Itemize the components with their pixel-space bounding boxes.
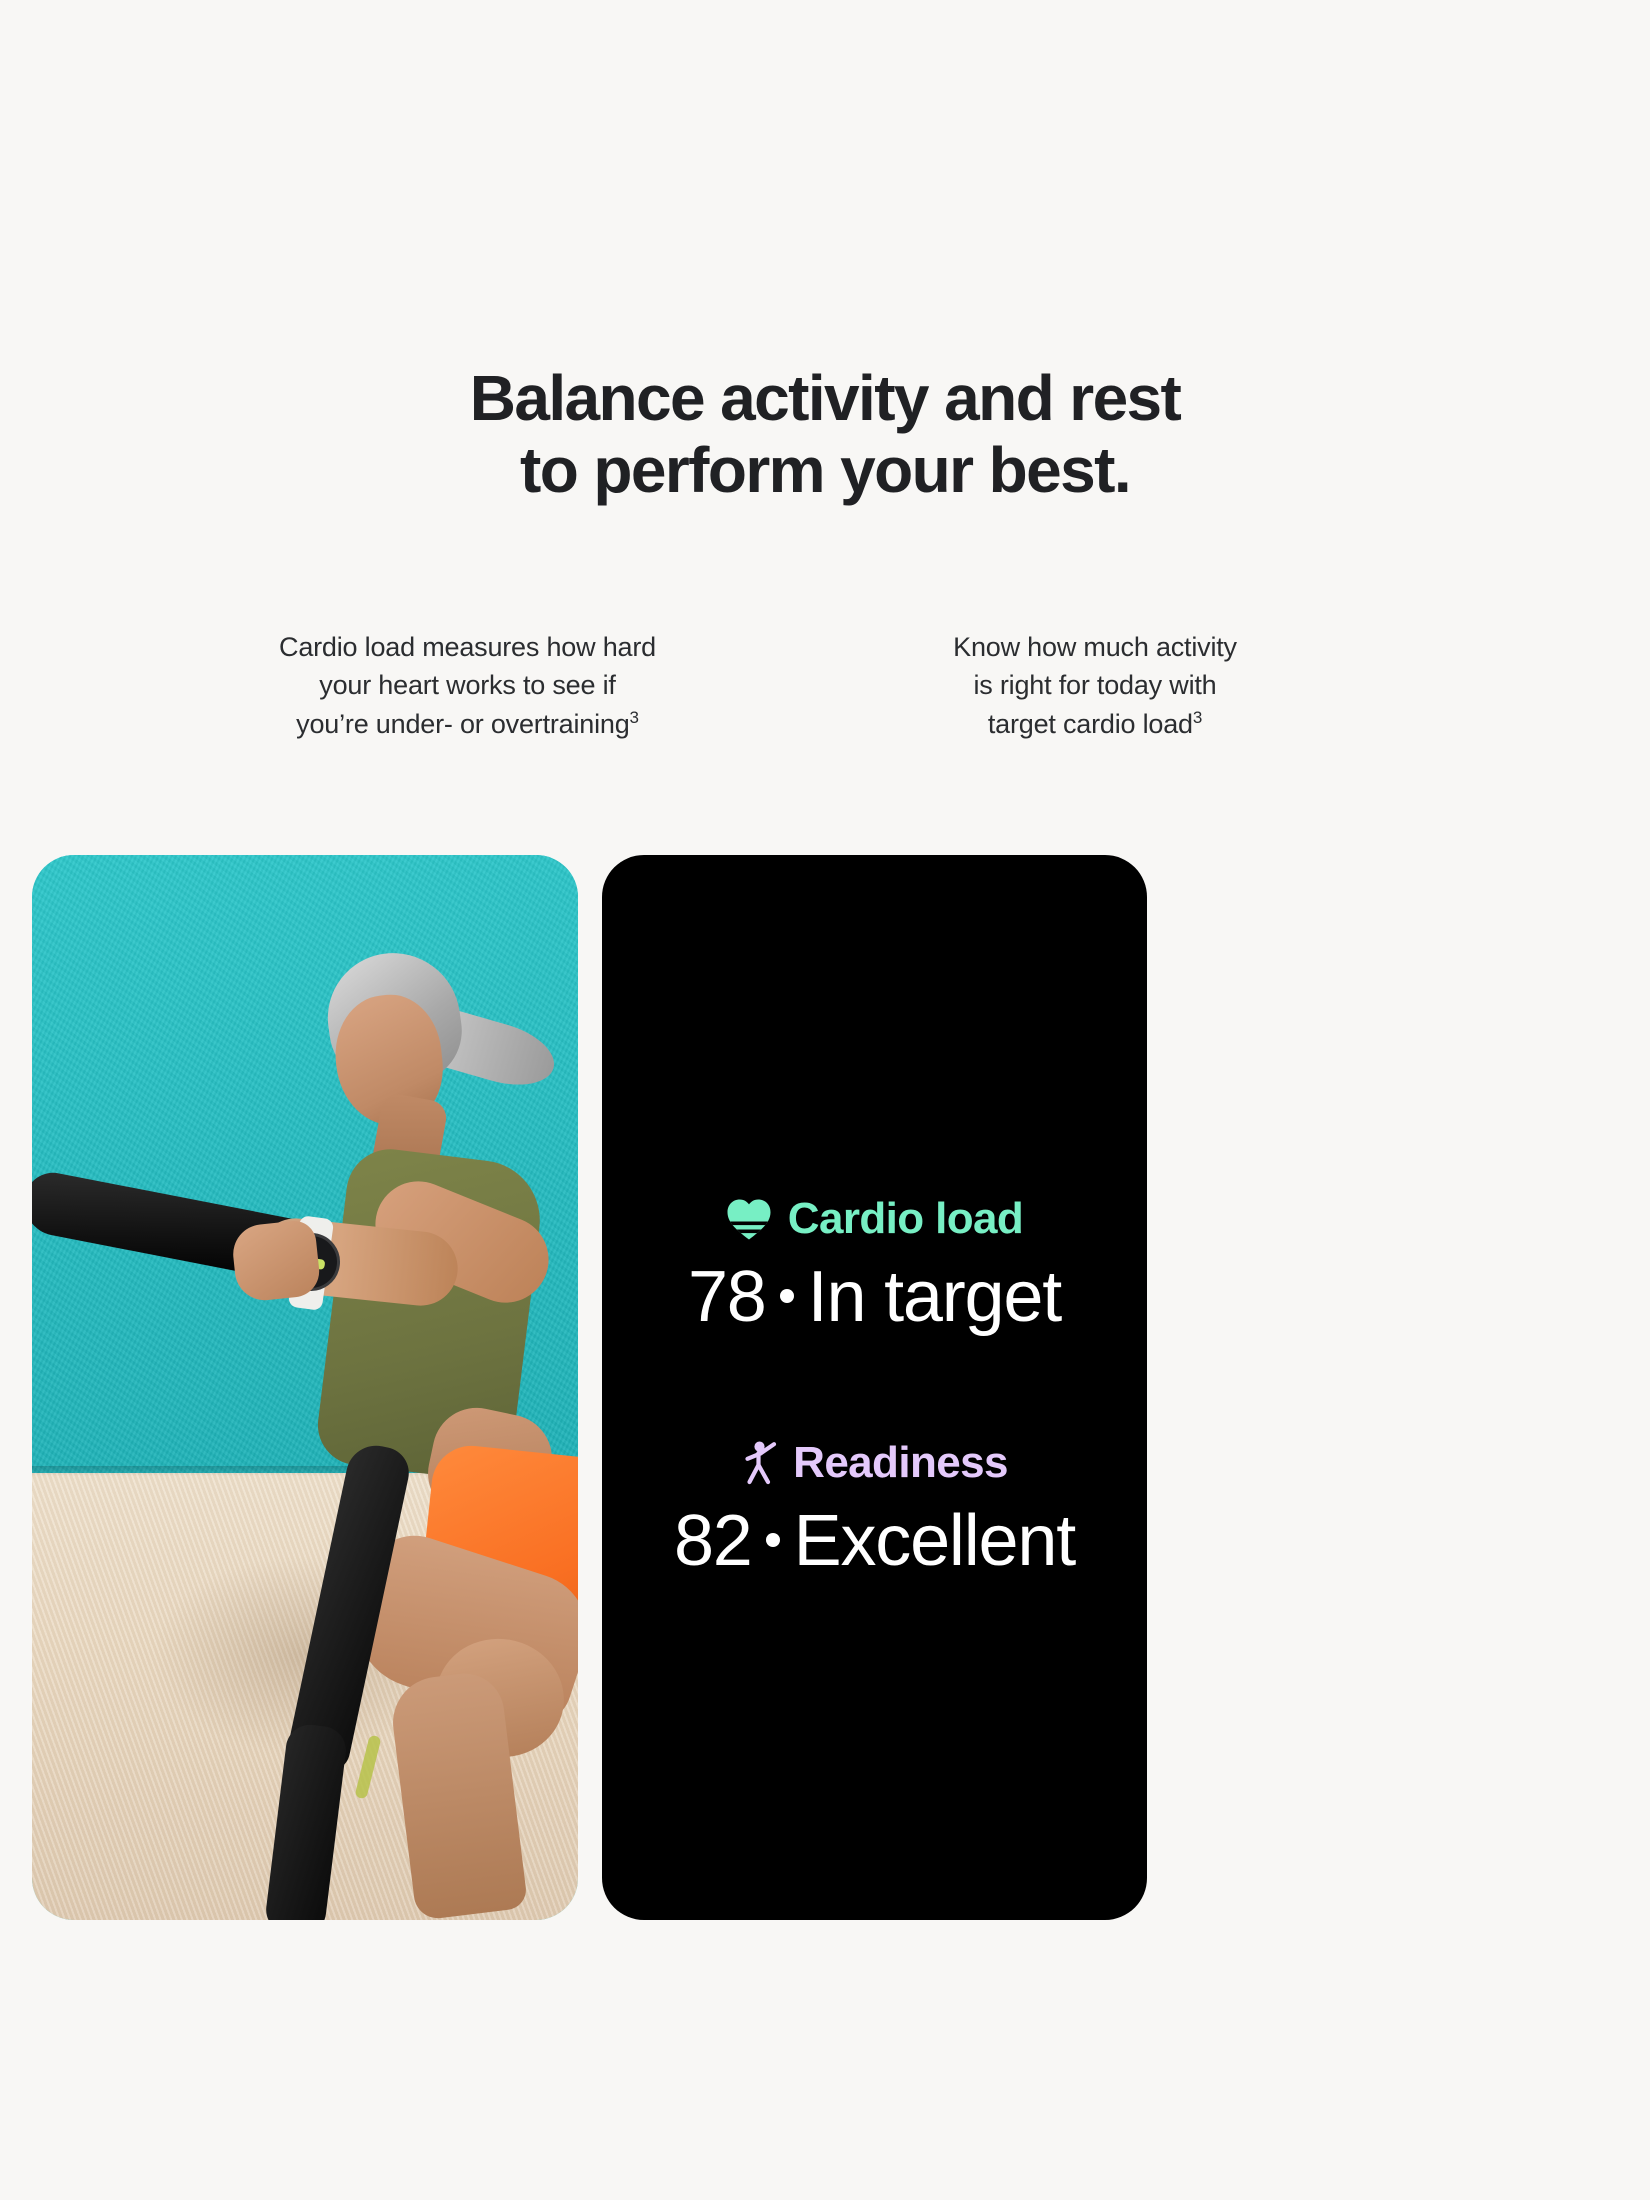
- description-line-3: you’re under- or overtraining3: [210, 705, 725, 743]
- metrics-card: Cardio load 78In target Readiness: [602, 855, 1147, 1920]
- metric-readiness-status: Excellent: [794, 1501, 1075, 1581]
- metric-readiness: Readiness 82Excellent: [602, 1438, 1147, 1582]
- metric-cardio-load-value-row: 78In target: [602, 1256, 1147, 1338]
- footnote-marker: 3: [630, 708, 639, 727]
- battle-rope-highlight: [354, 1734, 381, 1799]
- description-line-3: target cardio load3: [860, 705, 1330, 743]
- lifestyle-photo-card: [32, 855, 578, 1920]
- description-line-3-text: target cardio load: [988, 709, 1193, 739]
- page-title: Balance activity and rest to perform you…: [0, 362, 1650, 507]
- footnote-marker: 3: [1193, 708, 1202, 727]
- value-separator-dot: [780, 1289, 794, 1303]
- feature-description-target-load: Know how much activity is right for toda…: [860, 628, 1330, 743]
- metric-cardio-load: Cardio load 78In target: [602, 1194, 1147, 1338]
- content-cards: Cardio load 78In target Readiness: [0, 855, 1650, 1925]
- metric-readiness-value-row: 82Excellent: [602, 1500, 1147, 1582]
- metric-cardio-load-label: Cardio load: [788, 1194, 1023, 1244]
- feature-description-cardio-load: Cardio load measures how hard your heart…: [210, 628, 725, 743]
- hand-gripping-rope: [230, 1219, 321, 1303]
- metric-cardio-load-status: In target: [808, 1257, 1061, 1337]
- feature-descriptions: Cardio load measures how hard your heart…: [165, 628, 1485, 743]
- description-line-2: is right for today with: [860, 666, 1330, 704]
- person-stretch-icon: [741, 1441, 777, 1485]
- athlete-figure: [32, 855, 578, 1920]
- metric-readiness-label: Readiness: [793, 1438, 1008, 1488]
- description-line-2: your heart works to see if: [210, 666, 725, 704]
- metric-cardio-load-value: 78: [688, 1257, 766, 1337]
- description-line-3-text: you’re under- or overtraining: [296, 709, 629, 739]
- value-separator-dot: [766, 1533, 780, 1547]
- metric-readiness-header: Readiness: [602, 1438, 1147, 1488]
- page-title-line-2: to perform your best.: [0, 434, 1650, 506]
- metric-readiness-value: 82: [674, 1501, 752, 1581]
- heart-rate-icon: [726, 1198, 772, 1240]
- description-line-1: Know how much activity: [860, 628, 1330, 666]
- page-title-line-1: Balance activity and rest: [470, 362, 1181, 434]
- metric-cardio-load-header: Cardio load: [602, 1194, 1147, 1244]
- description-line-1: Cardio load measures how hard: [210, 628, 725, 666]
- battle-rope-lower: [263, 1722, 348, 1920]
